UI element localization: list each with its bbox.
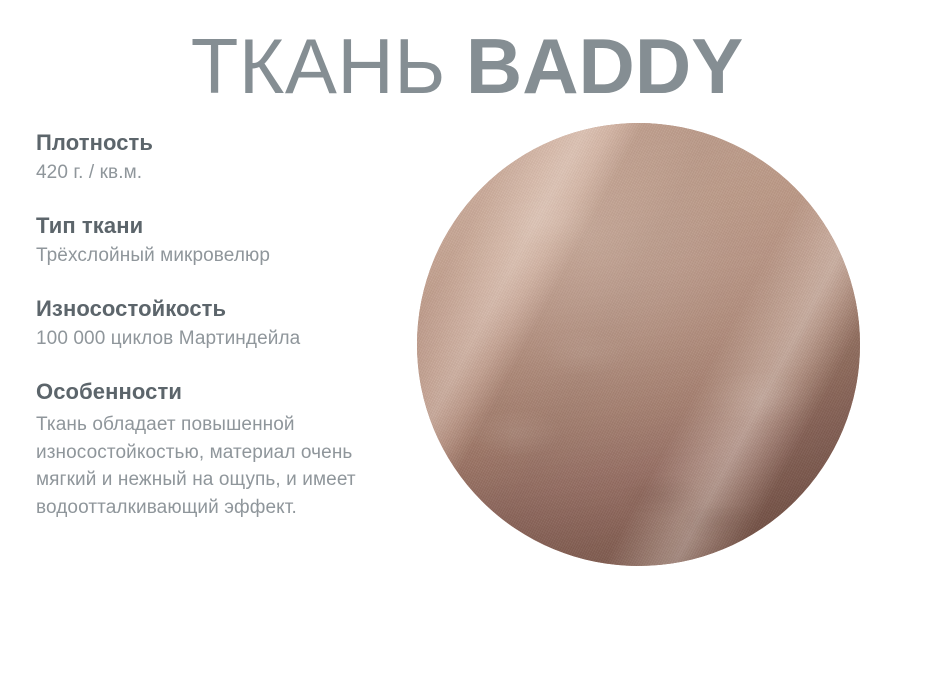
spec-item-fabric-type: Тип ткани Трёхслойный микровелюр	[36, 213, 396, 268]
fabric-swatch-image	[417, 123, 860, 566]
spec-value-density: 420 г. / кв.м.	[36, 160, 396, 185]
spec-value-durability: 100 000 циклов Мартиндейла	[36, 326, 396, 351]
swatch-vignette	[417, 123, 860, 566]
title-word-fabric: ТКАНЬ	[191, 22, 446, 110]
spec-heading-fabric-type: Тип ткани	[36, 213, 396, 239]
spec-heading-durability: Износостойкость	[36, 296, 396, 322]
title-word-brand: BADDY	[466, 22, 743, 110]
spec-item-durability: Износостойкость 100 000 циклов Мартиндей…	[36, 296, 396, 351]
spec-item-density: Плотность 420 г. / кв.м.	[36, 130, 396, 185]
spec-heading-density: Плотность	[36, 130, 396, 156]
specification-list: Плотность 420 г. / кв.м. Тип ткани Трёхс…	[36, 130, 396, 521]
page-title: ТКАНЬBADDY	[0, 27, 934, 105]
fabric-spec-slide: ТКАНЬBADDY Плотность 420 г. / кв.м. Тип …	[0, 0, 934, 700]
spec-value-fabric-type: Трёхслойный микровелюр	[36, 243, 396, 268]
spec-item-features: Особенности Ткань обладает повышенной из…	[36, 379, 396, 521]
spec-value-features: Ткань обладает повышенной износостойкост…	[36, 411, 381, 521]
spec-heading-features: Особенности	[36, 379, 396, 405]
